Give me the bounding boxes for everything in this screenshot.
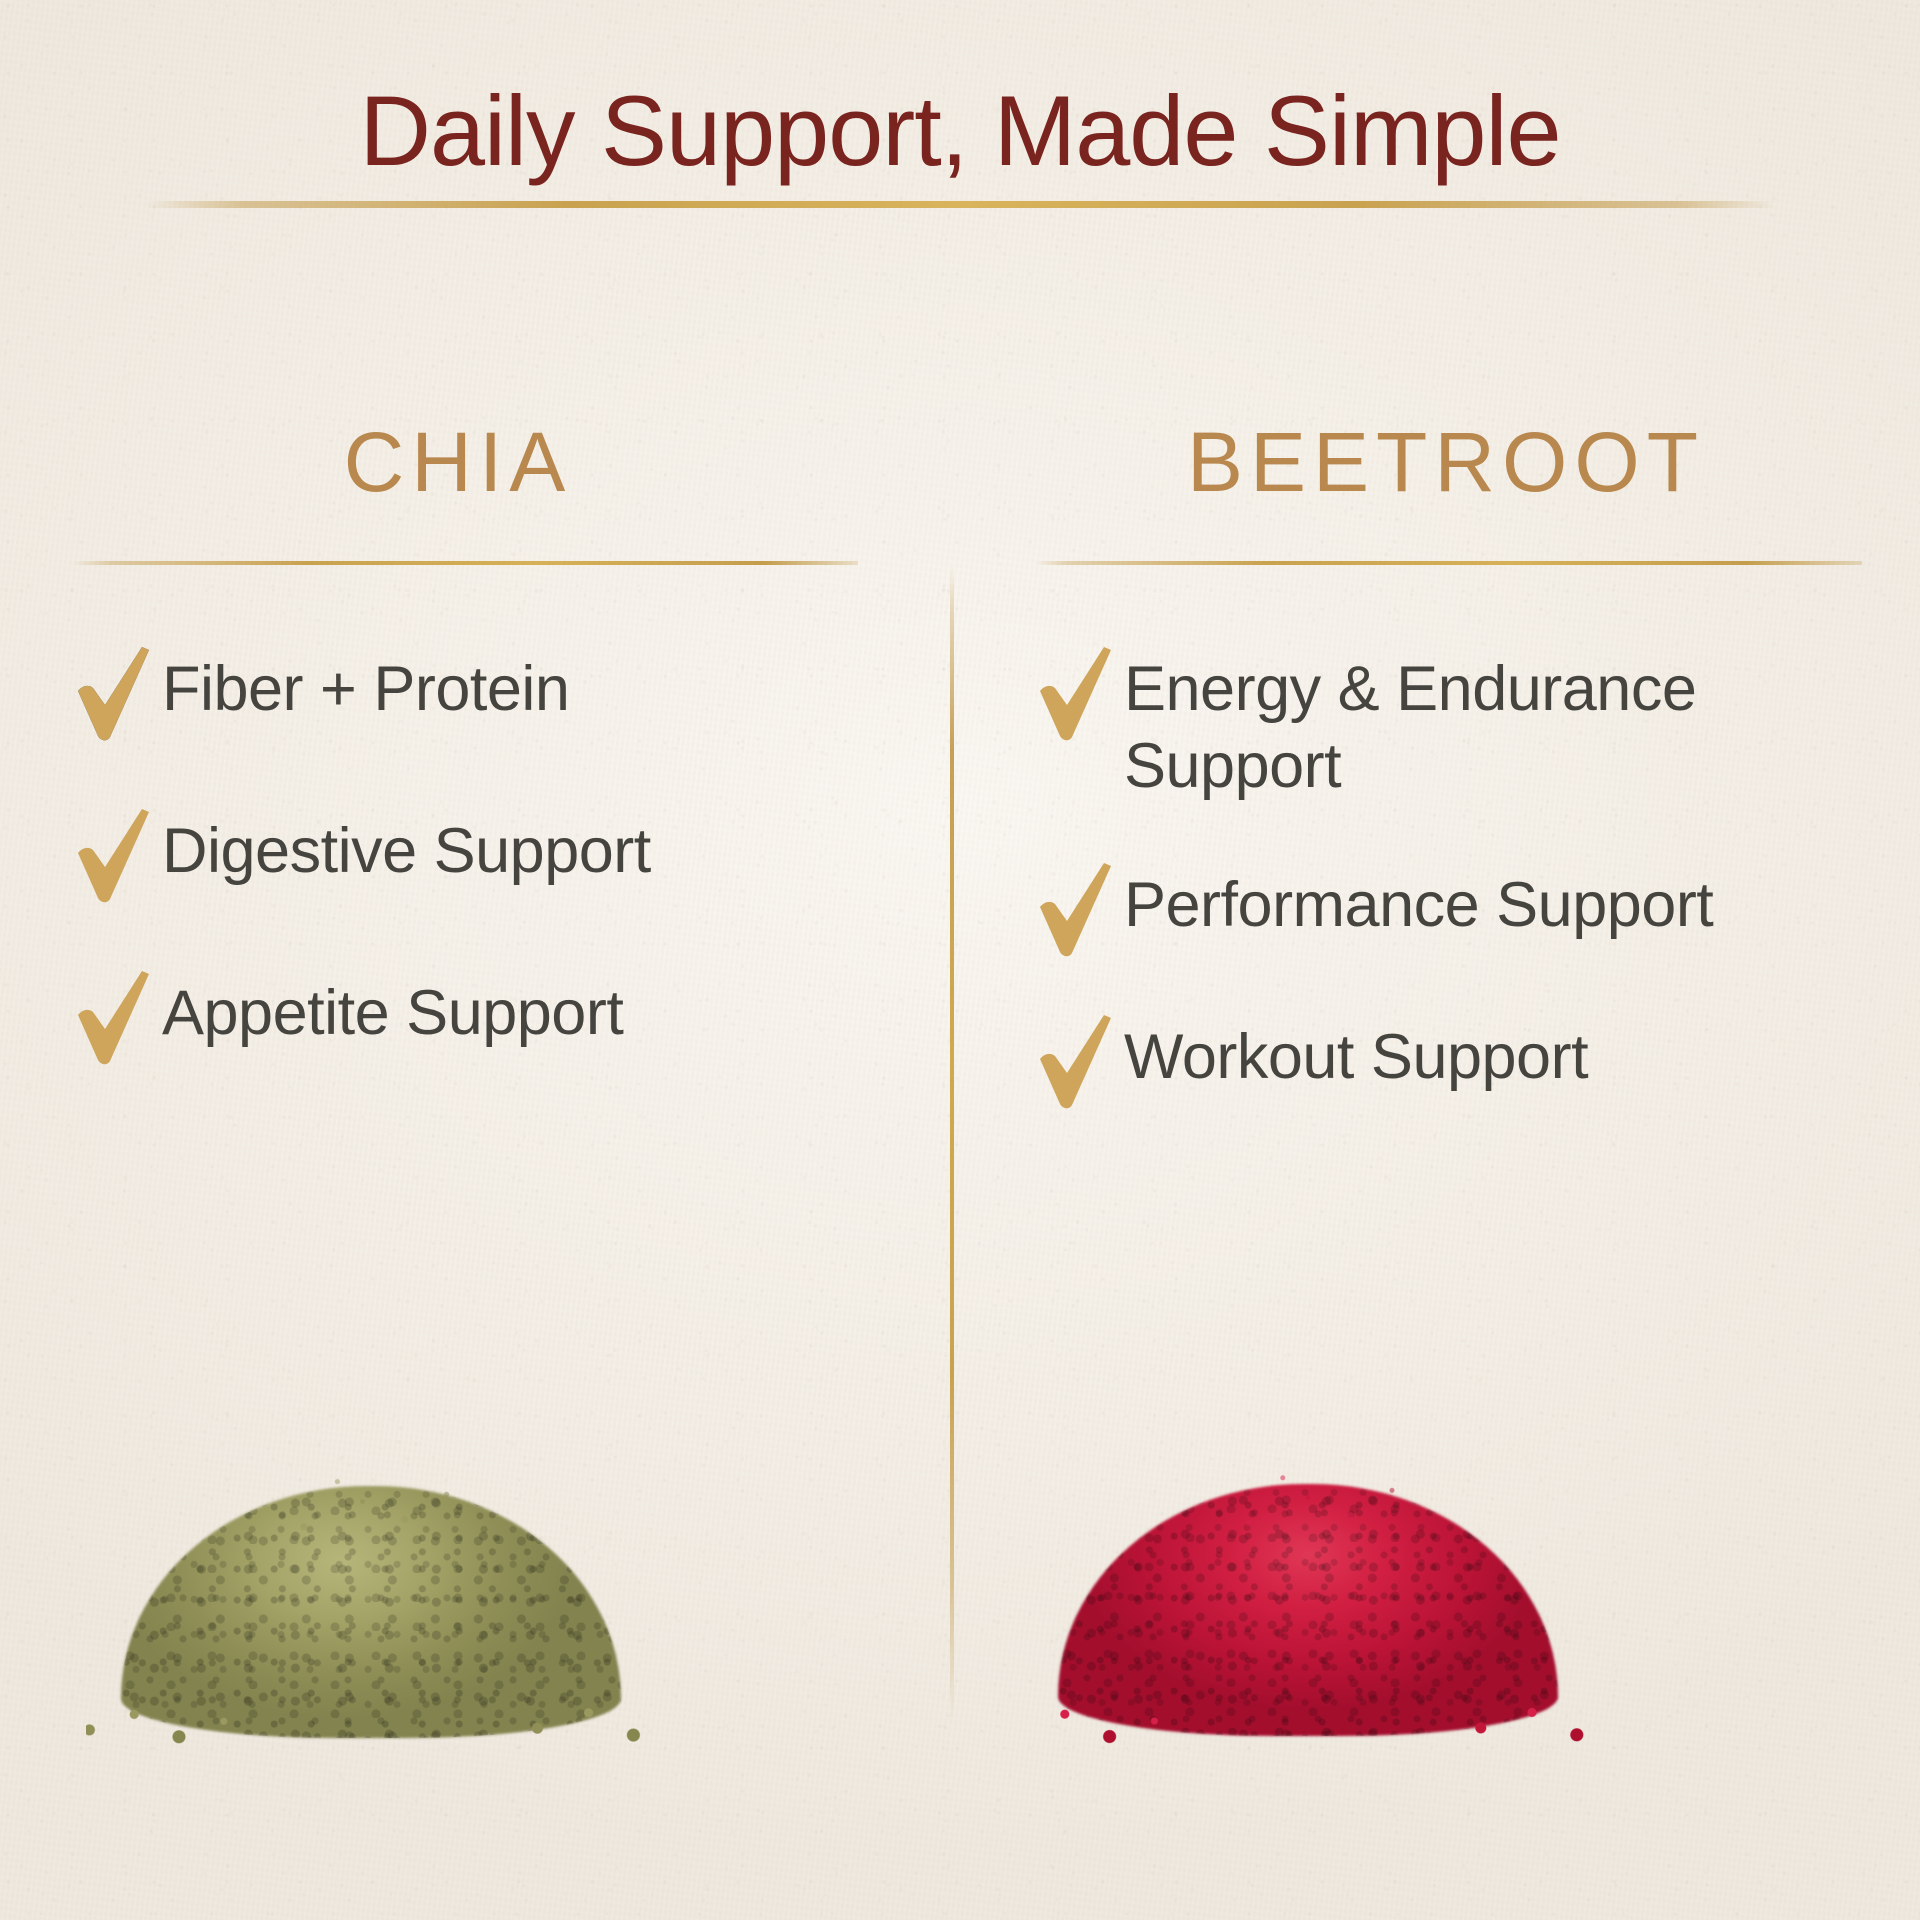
check-icon [1034, 1013, 1120, 1109]
beetroot-powder-image [1028, 1350, 1588, 1770]
benefit-label: Appetite Support [162, 975, 623, 1052]
benefit-label: Energy & Endurance Support [1124, 651, 1744, 805]
column-heading-chia: CHIA [72, 420, 858, 504]
infographic-content: Daily Support, Made Simple CHIA Fiber + … [0, 0, 1920, 1920]
powder-scatter [1028, 1666, 1588, 1752]
benefit-label: Fiber + Protein [162, 651, 569, 728]
column-heading-rule-chia [72, 561, 858, 565]
column-heading-beetroot: BEETROOT [1034, 420, 1862, 504]
check-icon [1034, 861, 1120, 957]
benefit-label: Digestive Support [162, 813, 651, 890]
title-underline-rule [144, 201, 1777, 208]
chia-powder-pile [121, 1486, 621, 1738]
column-chia: CHIA Fiber + Protein [0, 420, 950, 1109]
list-item: Performance Support [1034, 867, 1862, 957]
title-block: Daily Support, Made Simple [0, 78, 1920, 208]
column-beetroot: BEETROOT Energy & Endurance Support [950, 420, 1920, 1109]
powder-dust [1098, 1458, 1518, 1548]
list-item: Appetite Support [72, 975, 858, 1065]
column-heading-rule-beetroot [1034, 561, 1862, 565]
powder-scatter [86, 1668, 656, 1754]
list-item: Fiber + Protein [72, 651, 858, 741]
powder-dust [161, 1460, 581, 1550]
benefit-list-chia: Fiber + Protein Digestive Support [72, 651, 858, 1065]
list-item: Digestive Support [72, 813, 858, 903]
beetroot-powder-pile [1058, 1484, 1558, 1736]
comparison-columns: CHIA Fiber + Protein [0, 420, 1920, 1109]
benefit-list-beetroot: Energy & Endurance Support Performance S… [1034, 651, 1862, 1109]
list-item: Workout Support [1034, 1019, 1862, 1109]
list-item: Energy & Endurance Support [1034, 651, 1862, 805]
page-title: Daily Support, Made Simple [0, 78, 1920, 185]
benefit-label: Workout Support [1124, 1019, 1588, 1096]
check-icon [72, 807, 158, 903]
check-icon [72, 969, 158, 1065]
check-icon [72, 645, 158, 741]
check-icon [1034, 645, 1120, 741]
chia-powder-image [86, 1352, 656, 1772]
benefit-label: Performance Support [1124, 867, 1713, 944]
